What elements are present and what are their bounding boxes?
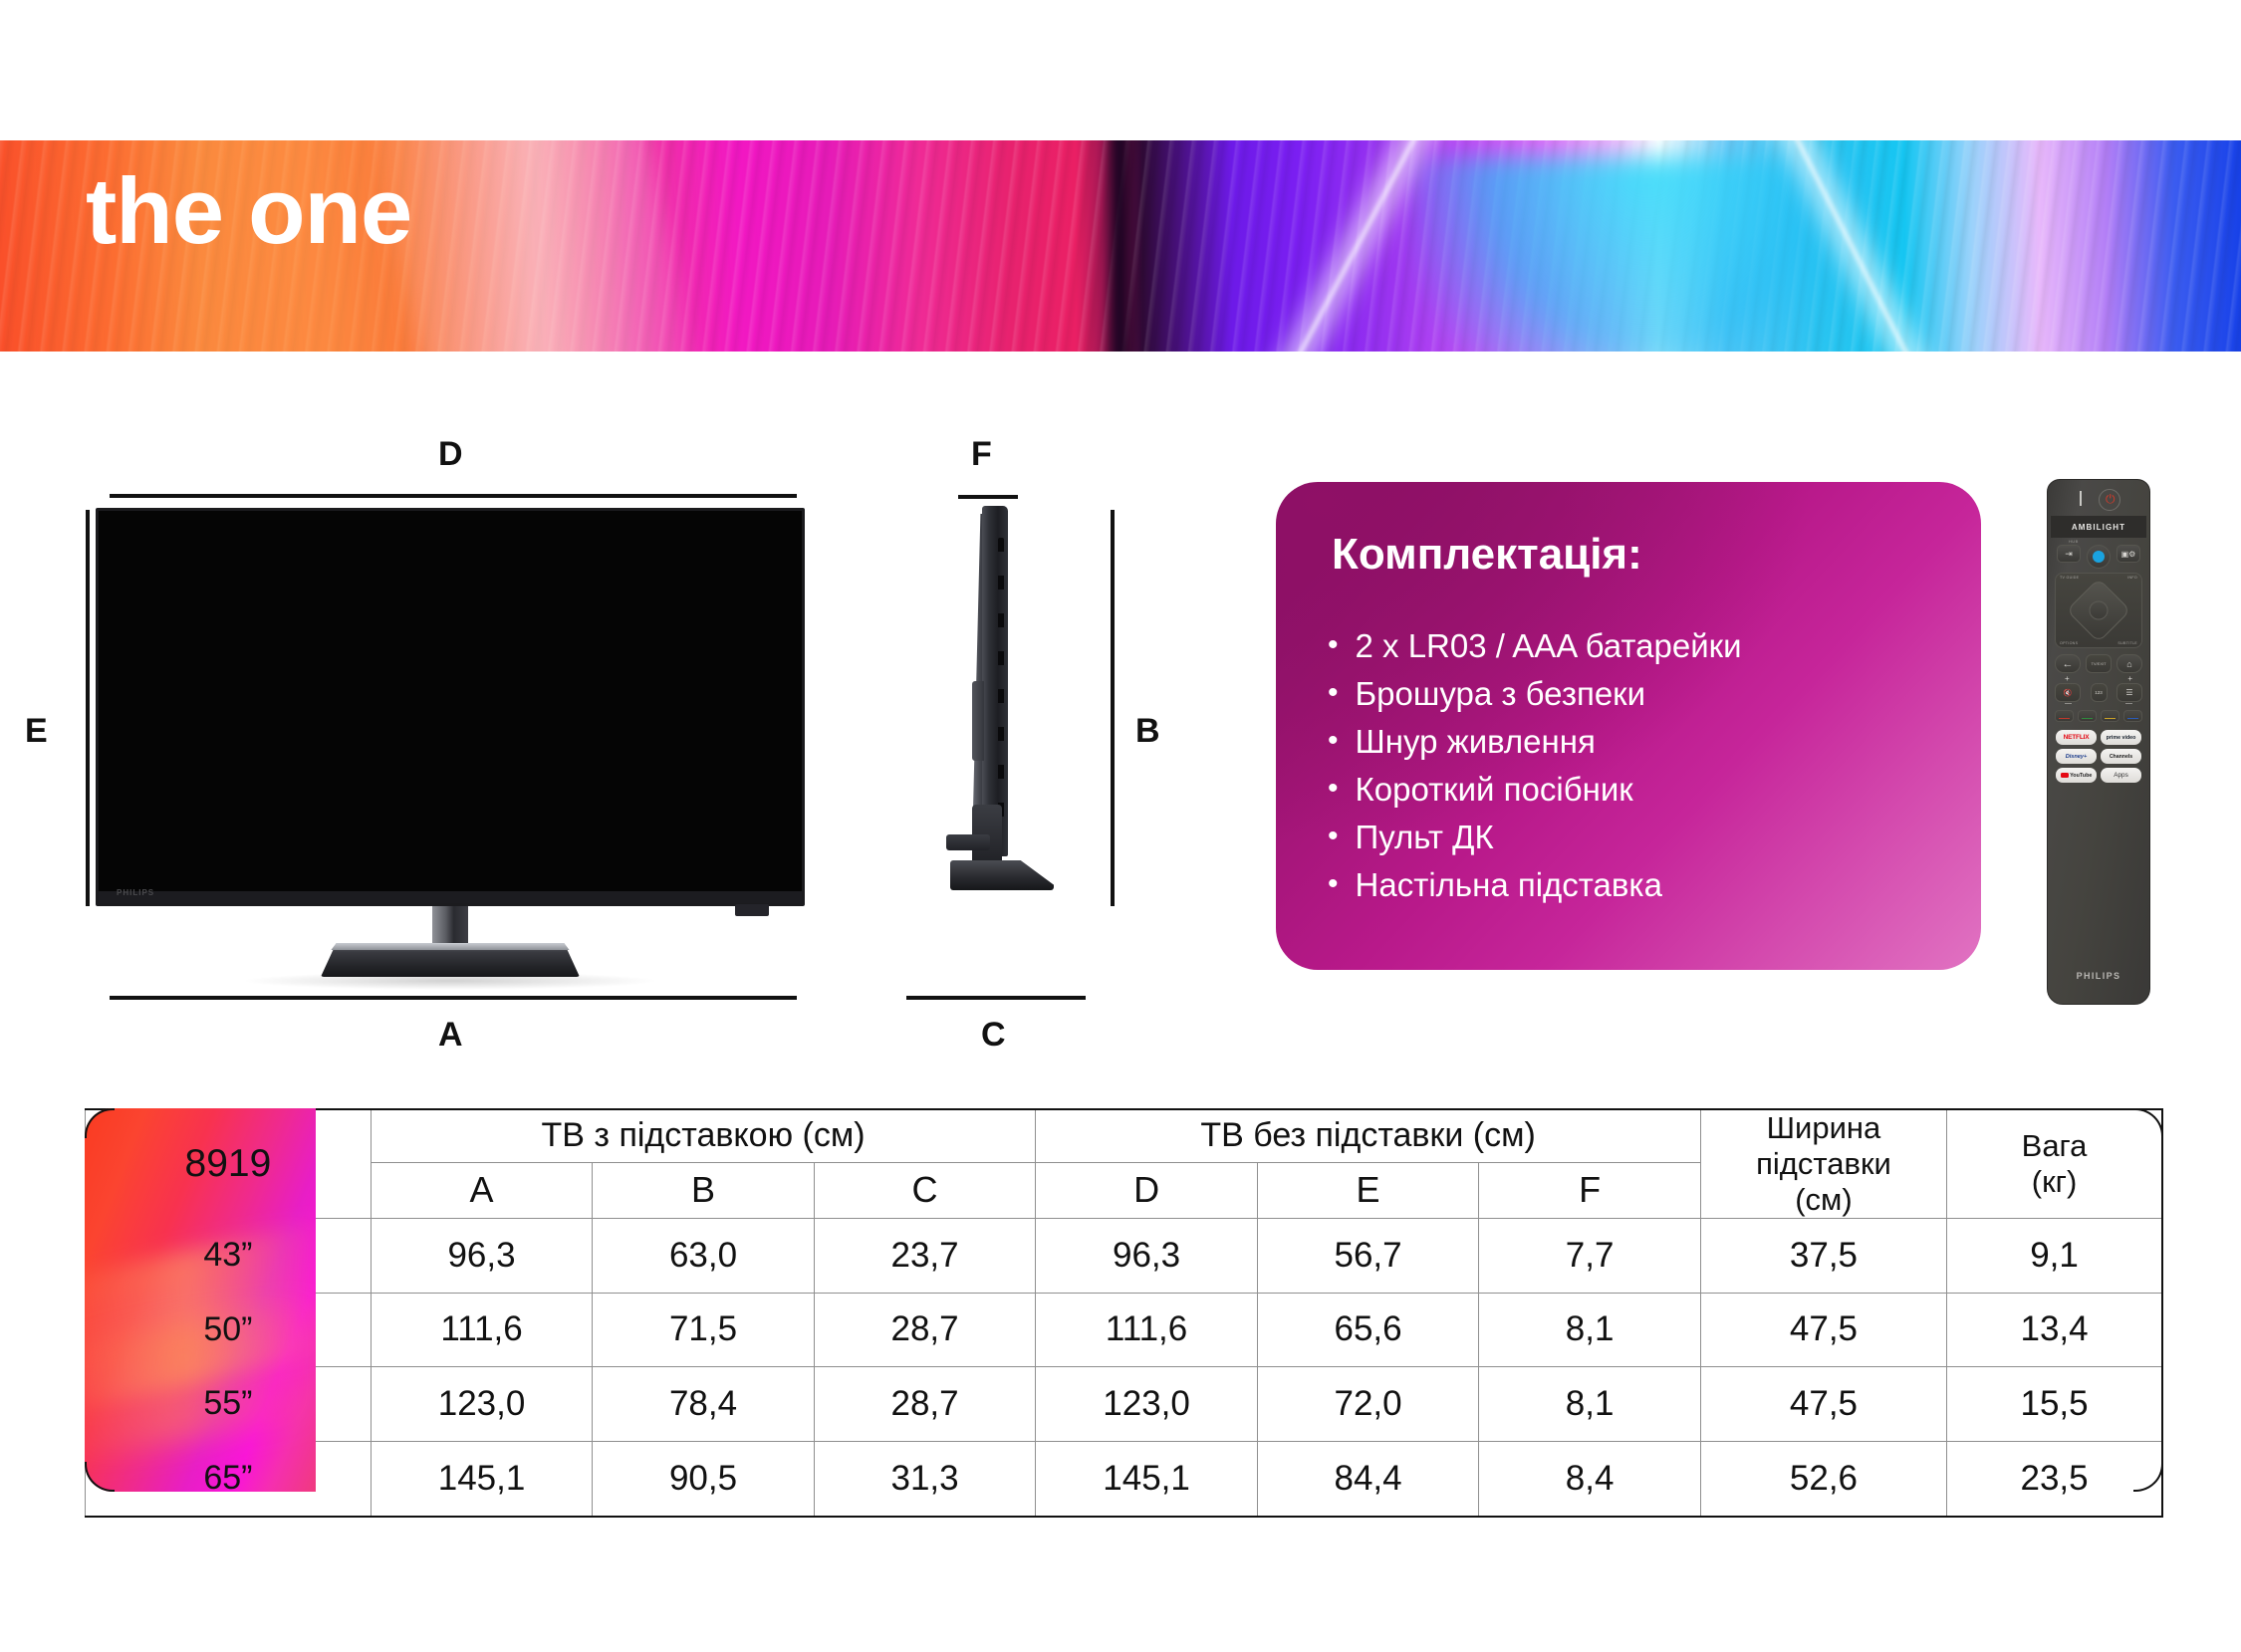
cell-a: 111,6 bbox=[371, 1293, 593, 1367]
netflix-button[interactable]: NETFLIX bbox=[2056, 730, 2097, 745]
app-row: NETFLIX prime video bbox=[2056, 730, 2141, 745]
dimension-rule-d bbox=[110, 494, 797, 498]
tv-side-stand-brace bbox=[946, 834, 990, 850]
source-button[interactable]: ⇥ bbox=[2057, 545, 2081, 563]
tv-guide-label: TV GUIDE bbox=[2060, 576, 2079, 580]
remote-nav-row: ← TV/EXIT ⌂ bbox=[2055, 654, 2142, 673]
row-size-label: 65” bbox=[86, 1441, 372, 1517]
cell-d: 123,0 bbox=[1036, 1367, 1258, 1442]
header-weight-line2: (кг) bbox=[1947, 1164, 2161, 1200]
package-contents-card: Комплектація: • 2 x LR03 / AAA батарейки… bbox=[1276, 482, 1981, 970]
tv-screen: PHILIPS bbox=[96, 508, 805, 906]
header-col-a: A bbox=[371, 1162, 593, 1218]
cell-d: 145,1 bbox=[1036, 1441, 1258, 1517]
options-label: OPTIONS bbox=[2060, 641, 2078, 645]
cell-c: 28,7 bbox=[814, 1293, 1036, 1367]
header-stand-width: Ширина підставки (см) bbox=[1700, 1109, 1946, 1218]
cell-weight: 23,5 bbox=[1947, 1441, 2162, 1517]
cell-f: 7,7 bbox=[1479, 1218, 1701, 1293]
settings-button[interactable]: ▣⚙ bbox=[2116, 545, 2140, 563]
subtitle-label: SUBTITLE bbox=[2117, 641, 2137, 645]
tv-side-view bbox=[936, 506, 1066, 904]
youtube-label: YouTube bbox=[2070, 773, 2092, 779]
remote-indicator-bar bbox=[2080, 491, 2082, 506]
banner-dark-seam bbox=[1103, 140, 1136, 352]
youtube-play-icon bbox=[2061, 773, 2069, 779]
home-button[interactable]: ⌂ bbox=[2116, 654, 2142, 673]
mute-icon: 🔇 bbox=[2064, 689, 2073, 697]
tv-ir-sensor bbox=[735, 904, 769, 916]
header-group-with-stand: ТВ з підставкою (см) bbox=[371, 1109, 1036, 1162]
cell-f: 8,1 bbox=[1479, 1367, 1701, 1442]
header-stand-width-line3: (см) bbox=[1701, 1182, 1946, 1218]
cell-c: 31,3 bbox=[814, 1441, 1036, 1517]
ok-button[interactable] bbox=[2090, 601, 2109, 620]
cell-stand-width: 47,5 bbox=[1700, 1293, 1946, 1367]
channel-plus-label: + bbox=[2127, 674, 2132, 683]
list-item-label: Настільна підставка bbox=[1356, 864, 1662, 906]
cell-e: 72,0 bbox=[1257, 1367, 1479, 1442]
row-size-label: 55” bbox=[86, 1367, 372, 1442]
package-contents-title: Комплектація: bbox=[1332, 530, 1642, 580]
hero-banner: the one bbox=[0, 140, 2241, 352]
cell-stand-width: 37,5 bbox=[1700, 1218, 1946, 1293]
volume-minus-label: — bbox=[2065, 700, 2072, 707]
remote-source-row: ⇥ ▣⚙ bbox=[2057, 545, 2140, 569]
gear-icon: ▣⚙ bbox=[2121, 550, 2136, 559]
cell-b: 63,0 bbox=[593, 1218, 815, 1293]
cell-c: 28,7 bbox=[814, 1367, 1036, 1442]
numeric-button[interactable]: 123 bbox=[2091, 683, 2108, 702]
cell-a: 123,0 bbox=[371, 1367, 593, 1442]
table-row: 65” 145,1 90,5 31,3 145,1 84,4 8,4 52,6 … bbox=[86, 1441, 2163, 1517]
page-root: the one D E PHILIPS A F B C Комплектація… bbox=[0, 0, 2241, 1652]
bullet-icon: • bbox=[1328, 673, 1339, 712]
cell-b: 90,5 bbox=[593, 1441, 815, 1517]
numeric-label: 123 bbox=[2095, 690, 2103, 695]
cell-a: 96,3 bbox=[371, 1218, 593, 1293]
back-arrow-icon: ← bbox=[2063, 658, 2074, 670]
source-icon: ⇥ bbox=[2065, 549, 2073, 560]
red-button[interactable] bbox=[2055, 710, 2074, 722]
volume-plus-label: + bbox=[2065, 674, 2070, 683]
green-button[interactable] bbox=[2078, 710, 2097, 722]
dpad-cluster[interactable]: TV GUIDE INFO OPTIONS SUBTITLE bbox=[2055, 573, 2142, 648]
list-item: • Шнур живлення bbox=[1328, 721, 1945, 763]
list-item-label: Брошура з безпеки bbox=[1356, 673, 1646, 715]
tv-side-vents bbox=[998, 538, 1004, 836]
table-header-row-groups: 8919 ТВ з підставкою (см) ТВ без підстав… bbox=[86, 1109, 2163, 1162]
tv-exit-label: TV/EXIT bbox=[2091, 661, 2106, 666]
tv-front-view: PHILIPS bbox=[96, 508, 805, 906]
app-row: YouTube Apps bbox=[2056, 768, 2141, 783]
list-item: • 2 x LR03 / AAA батарейки bbox=[1328, 625, 1945, 667]
app-shortcut-buttons: NETFLIX prime video Disney+ Channels You… bbox=[2056, 730, 2141, 787]
remote-control: ⏻ AMBILIGHT HUB ⇥ ▣⚙ TV GUIDE INFO OPTIO… bbox=[2047, 479, 2150, 1005]
cell-f: 8,4 bbox=[1479, 1441, 1701, 1517]
list-item-label: Пульт ДК bbox=[1356, 817, 1494, 858]
list-icon: ☰ bbox=[2125, 688, 2132, 697]
header-stand-width-line2: підставки bbox=[1701, 1146, 1946, 1182]
list-item-label: 2 x LR03 / AAA батарейки bbox=[1356, 625, 1742, 667]
row-size-label: 43” bbox=[86, 1218, 372, 1293]
disney-plus-button[interactable]: Disney+ bbox=[2056, 749, 2097, 764]
hub-label: HUB bbox=[2069, 539, 2079, 544]
cell-stand-width: 47,5 bbox=[1700, 1367, 1946, 1442]
ambilight-circle-icon bbox=[2093, 551, 2105, 563]
table-row: 43” 96,3 63,0 23,7 96,3 56,7 7,7 37,5 9,… bbox=[86, 1218, 2163, 1293]
row-size-label: 50” bbox=[86, 1293, 372, 1367]
bullet-icon: • bbox=[1328, 769, 1339, 808]
banner-cyan-glow bbox=[1412, 157, 1883, 352]
dimension-label-a: A bbox=[438, 1016, 463, 1055]
dimension-label-c: C bbox=[981, 1016, 1006, 1055]
info-label: INFO bbox=[2127, 576, 2137, 580]
cell-stand-width: 52,6 bbox=[1700, 1441, 1946, 1517]
cell-e: 65,6 bbox=[1257, 1293, 1479, 1367]
cell-a: 145,1 bbox=[371, 1441, 593, 1517]
spec-table-wrapper: 8919 ТВ з підставкою (см) ТВ без підстав… bbox=[85, 1108, 2163, 1492]
remote-brand-logo: PHILIPS bbox=[2047, 971, 2150, 981]
dimension-label-d: D bbox=[438, 435, 463, 474]
channel-minus-label: — bbox=[2125, 700, 2132, 707]
ambilight-button[interactable]: AMBILIGHT bbox=[2051, 516, 2146, 538]
cell-weight: 9,1 bbox=[1947, 1218, 2162, 1293]
list-item: • Брошура з безпеки bbox=[1328, 673, 1945, 715]
bullet-icon: • bbox=[1328, 864, 1339, 903]
cell-e: 84,4 bbox=[1257, 1441, 1479, 1517]
dimension-rule-b bbox=[1111, 510, 1115, 906]
header-col-e: E bbox=[1257, 1162, 1479, 1218]
dimension-rule-f bbox=[958, 495, 1018, 499]
home-icon: ⌂ bbox=[2126, 659, 2131, 669]
power-icon: ⏻ bbox=[2106, 493, 2114, 506]
tv-brand-logo: PHILIPS bbox=[117, 888, 154, 897]
banner-title: the one bbox=[86, 164, 411, 258]
prime-video-button[interactable]: prime video bbox=[2101, 730, 2141, 745]
package-contents-list: • 2 x LR03 / AAA батарейки • Брошура з б… bbox=[1328, 625, 1945, 911]
cell-b: 71,5 bbox=[593, 1293, 815, 1367]
tv-stand-base-highlight bbox=[321, 943, 580, 950]
bullet-icon: • bbox=[1328, 721, 1339, 760]
header-weight-line1: Вага bbox=[1947, 1128, 2161, 1164]
header-stand-width-line1: Ширина bbox=[1701, 1110, 1946, 1146]
youtube-button[interactable]: YouTube bbox=[2056, 768, 2097, 783]
bullet-icon: • bbox=[1328, 625, 1339, 664]
dimension-rule-c bbox=[906, 996, 1086, 1000]
list-item-label: Шнур живлення bbox=[1356, 721, 1596, 763]
blue-button[interactable] bbox=[2123, 710, 2142, 722]
cell-c: 23,7 bbox=[814, 1218, 1036, 1293]
header-col-b: B bbox=[593, 1162, 815, 1218]
list-item: • Короткий посібник bbox=[1328, 769, 1945, 811]
dimension-rule-a bbox=[110, 996, 797, 1000]
dimension-label-e: E bbox=[25, 712, 48, 751]
table-row: 50” 111,6 71,5 28,7 111,6 65,6 8,1 47,5 … bbox=[86, 1293, 2163, 1367]
list-item: • Настільна підставка bbox=[1328, 864, 1945, 906]
channels-button[interactable]: Channels bbox=[2101, 749, 2141, 764]
cell-weight: 15,5 bbox=[1947, 1367, 2162, 1442]
yellow-button[interactable] bbox=[2101, 710, 2119, 722]
apps-button[interactable]: Apps bbox=[2101, 768, 2141, 783]
color-buttons-row bbox=[2055, 710, 2142, 722]
header-col-c: C bbox=[814, 1162, 1036, 1218]
header-col-f: F bbox=[1479, 1162, 1701, 1218]
cell-b: 78,4 bbox=[593, 1367, 815, 1442]
ambilight-color-button[interactable] bbox=[2087, 545, 2111, 569]
model-badge: 8919 bbox=[86, 1109, 372, 1218]
table-row: 55” 123,0 78,4 28,7 123,0 72,0 8,1 47,5 … bbox=[86, 1367, 2163, 1442]
dimension-label-f: F bbox=[971, 435, 992, 474]
tv-exit-button[interactable]: TV/EXIT bbox=[2086, 654, 2112, 673]
dimension-rule-e bbox=[86, 510, 90, 906]
list-item-label: Короткий посібник bbox=[1356, 769, 1633, 811]
cell-d: 96,3 bbox=[1036, 1218, 1258, 1293]
spec-table: 8919 ТВ з підставкою (см) ТВ без підстав… bbox=[85, 1108, 2163, 1518]
tv-side-stand-foot bbox=[950, 860, 1054, 890]
cell-weight: 13,4 bbox=[1947, 1293, 2162, 1367]
list-item: • Пульт ДК bbox=[1328, 817, 1945, 858]
tv-drop-shadow bbox=[241, 972, 659, 990]
tv-side-connector-bay bbox=[972, 681, 984, 761]
dimension-label-b: B bbox=[1135, 712, 1160, 751]
app-row: Disney+ Channels bbox=[2056, 749, 2141, 764]
header-col-d: D bbox=[1036, 1162, 1258, 1218]
cell-d: 111,6 bbox=[1036, 1293, 1258, 1367]
cell-e: 56,7 bbox=[1257, 1218, 1479, 1293]
cell-f: 8,1 bbox=[1479, 1293, 1701, 1367]
header-weight: Вага (кг) bbox=[1947, 1109, 2162, 1218]
bullet-icon: • bbox=[1328, 817, 1339, 855]
header-group-without-stand: ТВ без підставки (см) bbox=[1036, 1109, 1701, 1162]
back-button[interactable]: ← bbox=[2055, 654, 2081, 673]
